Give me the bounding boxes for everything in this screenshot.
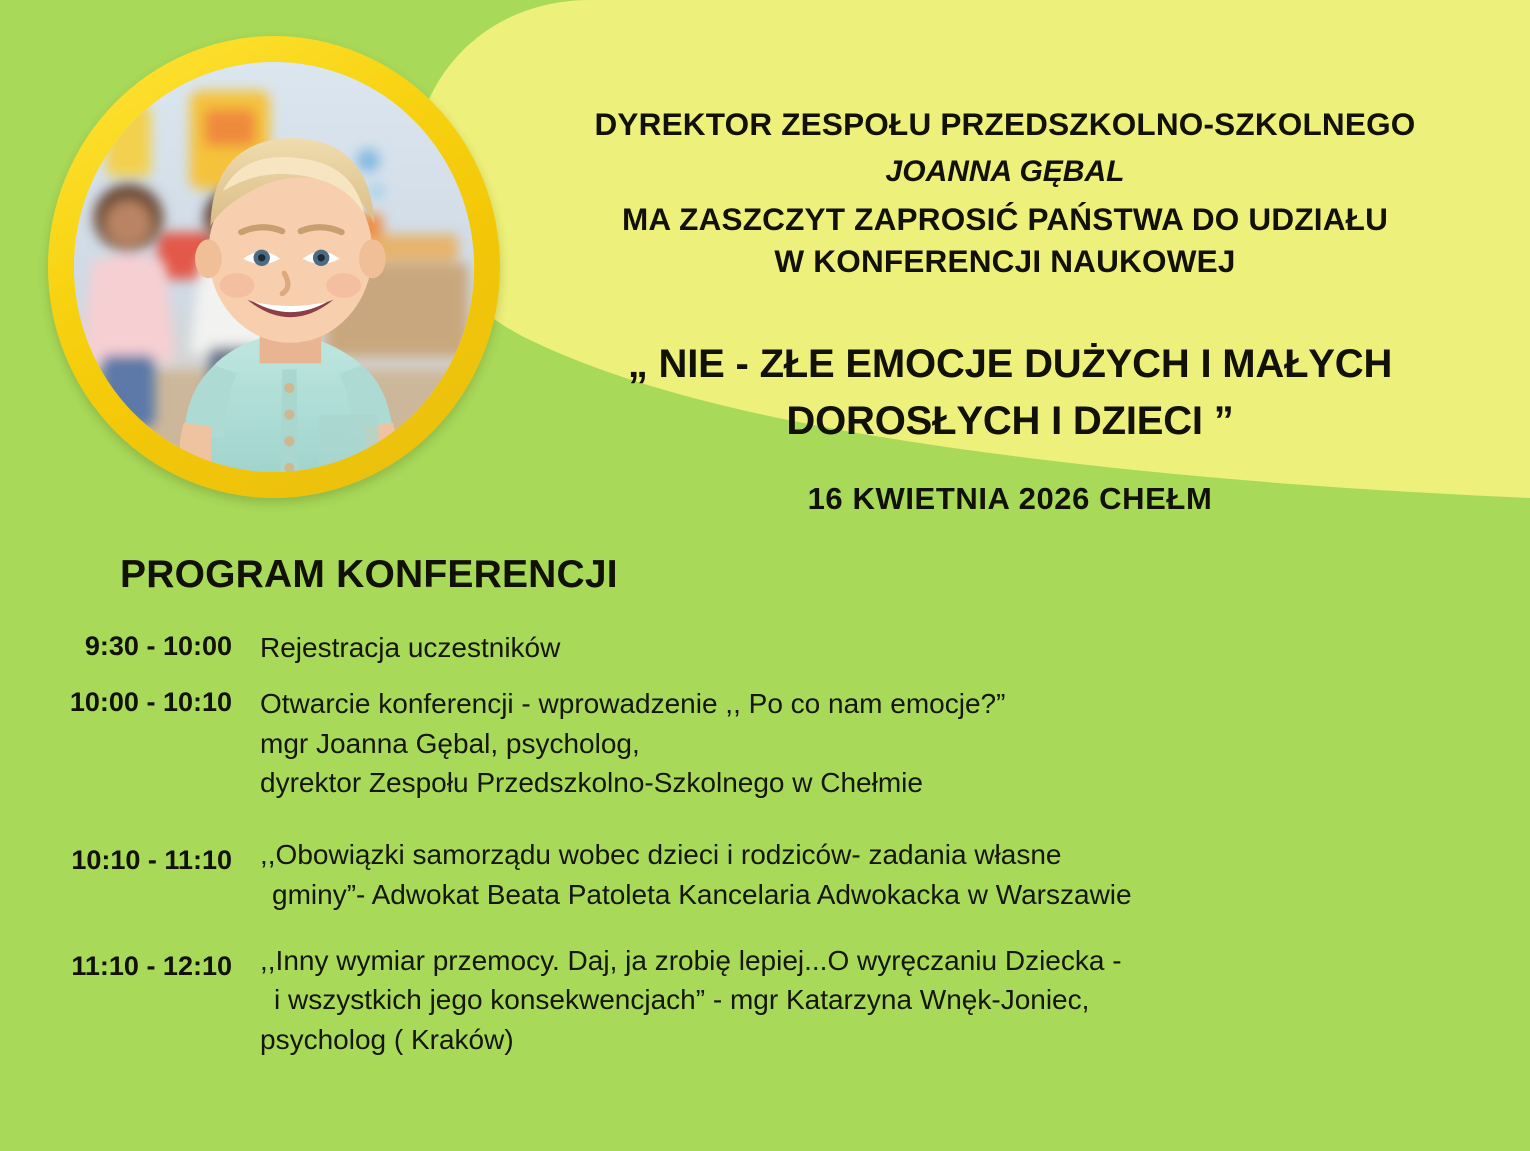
conference-title-line-1: „ NIE - ZŁE EMOCJE DUŻYCH I MAŁYCH: [520, 336, 1500, 393]
schedule-description: Otwarcie konferencji - wprowadzenie ,, P…: [232, 684, 1530, 803]
schedule-line: Rejestracja uczestników: [260, 628, 1530, 668]
schedule-line: mgr Joanna Gębal, psycholog,: [260, 724, 1530, 764]
director-name: JOANNA GĘBAL: [500, 150, 1510, 194]
conference-date: 16 KWIETNIA 2026 CHEŁM: [520, 481, 1500, 517]
header-line-1: DYREKTOR ZESPOŁU PRZEDSZKOLNO-SZKOLNEGO: [500, 104, 1510, 146]
invitation-header: DYREKTOR ZESPOŁU PRZEDSZKOLNO-SZKOLNEGO …: [500, 104, 1510, 283]
header-line-2: MA ZASZCZYT ZAPROSIĆ PAŃSTWA DO UDZIAŁU: [500, 199, 1510, 241]
conference-title: „ NIE - ZŁE EMOCJE DUŻYCH I MAŁYCH DOROS…: [520, 336, 1500, 450]
schedule-line: dyrektor Zespołu Przedszkolno-Szkolnego …: [260, 763, 1530, 803]
schedule-time: 11:10 - 12:10: [0, 941, 232, 982]
schedule-time: 9:30 - 10:00: [0, 628, 232, 662]
schedule-line: psycholog ( Kraków): [260, 1020, 1530, 1060]
schedule-description: Rejestracja uczestników: [232, 628, 1530, 668]
avatar: [48, 36, 500, 498]
program-heading: PROGRAM KONFERENCJI: [120, 553, 618, 597]
schedule-line: ,,Obowiązki samorządu wobec dzieci i rod…: [260, 835, 1530, 875]
schedule-line: gminy”- Adwokat Beata Patoleta Kancelari…: [260, 875, 1530, 915]
schedule-row: 10:00 - 10:10 Otwarcie konferencji - wpr…: [0, 684, 1530, 803]
schedule-time: 10:00 - 10:10: [0, 684, 232, 718]
conference-title-line-2: DOROSŁYCH I DZIECI ”: [520, 393, 1500, 450]
schedule-row: 9:30 - 10:00 Rejestracja uczestników: [0, 628, 1530, 668]
schedule-row: 11:10 - 12:10 ,,Inny wymiar przemocy. Da…: [0, 941, 1530, 1060]
schedule-row: 10:10 - 11:10 ,,Obowiązki samorządu wobe…: [0, 835, 1530, 915]
program-schedule: 9:30 - 10:00 Rejestracja uczestników 10:…: [0, 628, 1530, 1070]
conference-poster: DYREKTOR ZESPOŁU PRZEDSZKOLNO-SZKOLNEGO …: [0, 0, 1530, 1151]
schedule-description: ,,Inny wymiar przemocy. Daj, ja zrobię l…: [232, 941, 1530, 1060]
header-line-3: W KONFERENCJI NAUKOWEJ: [500, 241, 1510, 283]
schedule-line: ,,Inny wymiar przemocy. Daj, ja zrobię l…: [260, 941, 1530, 981]
schedule-line: i wszystkich jego konsekwencjach” - mgr …: [260, 980, 1530, 1020]
schedule-line: Otwarcie konferencji - wprowadzenie ,, P…: [260, 684, 1530, 724]
children-photo: [74, 62, 474, 472]
schedule-description: ,,Obowiązki samorządu wobec dzieci i rod…: [232, 835, 1530, 915]
schedule-time: 10:10 - 11:10: [0, 835, 232, 876]
